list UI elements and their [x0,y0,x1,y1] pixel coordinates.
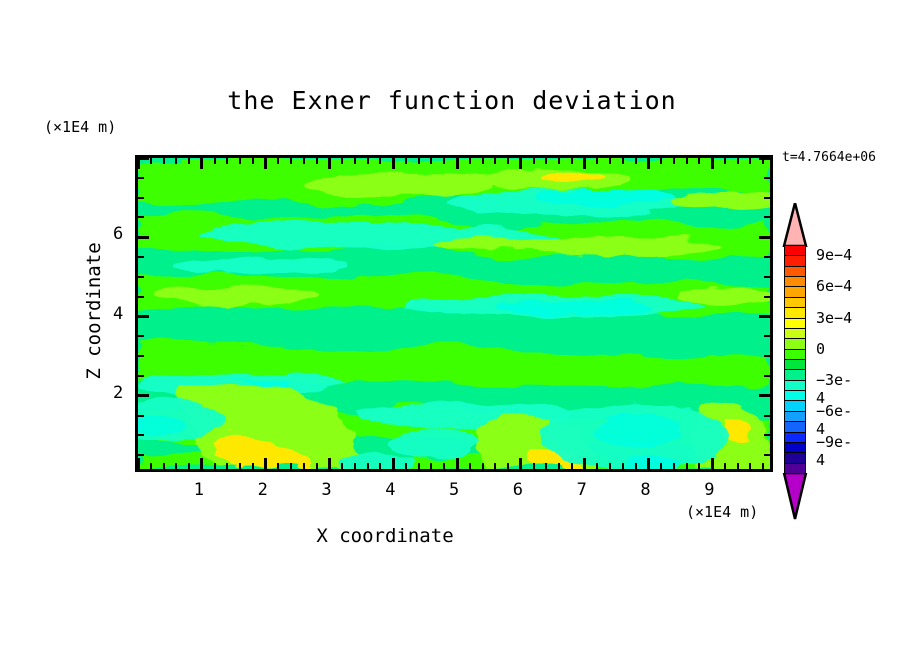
x-tick-label: 3 [321,480,331,500]
x-axis-units-label: (×1E4 m) [686,503,758,521]
colorbar-tick-label: 9e−4 [816,246,852,264]
y-tick-label: 4 [113,304,123,324]
time-stamp-label: t=4.7664e+06 [782,150,876,165]
colorbar-tick-label: 3e−4 [816,309,852,327]
colorbar-bottom-extend-arrow [781,473,809,521]
colorbar-tick-label: −9e-4 [816,433,852,469]
x-tick-label: 6 [513,480,523,500]
colorbar-tick-label: 0 [816,340,825,358]
colorbar-top-extend-arrow [781,203,809,247]
contour-plot-area[interactable] [135,155,773,472]
x-tick-label: 9 [704,480,714,500]
x-tick-label: 7 [577,480,587,500]
y-tick-label: 2 [113,383,123,403]
x-tick-label: 1 [194,480,204,500]
y-axis-units-label: (×1E4 m) [44,118,116,136]
x-tick-label: 5 [449,480,459,500]
colorbar[interactable] [781,203,809,517]
x-tick-label: 2 [258,480,268,500]
y-axis-title: Z coordinate [83,211,105,411]
x-tick-label: 4 [385,480,395,500]
colorbar-tick-label: 6e−4 [816,277,852,295]
x-axis-title: X coordinate [235,525,535,547]
x-tick-label: 8 [640,480,650,500]
contour-field [138,158,770,469]
y-tick-label: 6 [113,224,123,244]
chart-title: the Exner function deviation [0,86,904,115]
